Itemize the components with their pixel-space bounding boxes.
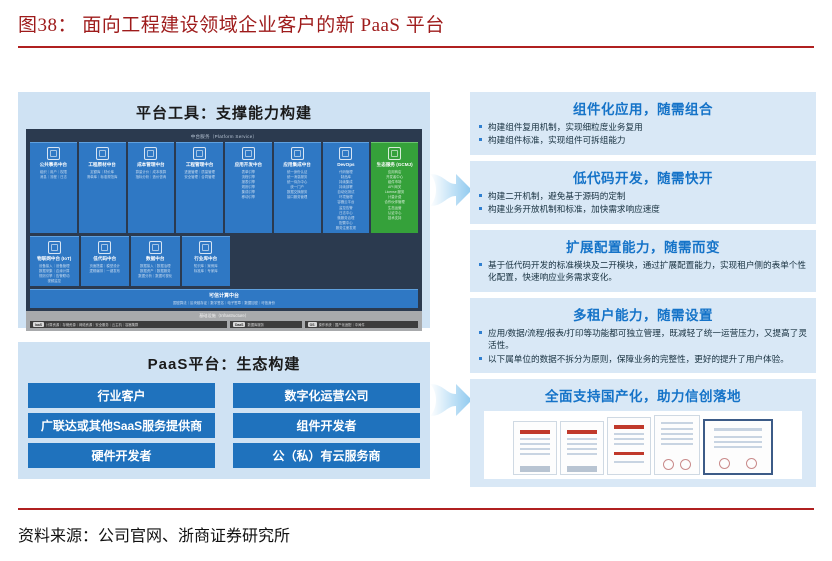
trusted-computing-band[interactable]: 可信计算中台 国密算法｜区块链存证｜数字签名｜电子签章｜数据加密｜可信身份 [30,289,418,308]
tile-label: DevOps [337,162,354,168]
module-icon [144,147,157,160]
source-note: 资料来源：公司官网、浙商证券研究所 [18,522,290,546]
tile-sub: 技术支持 [372,216,417,221]
tile-row-2-spacer [232,236,418,286]
module-icon [291,147,304,160]
tile-label: 公共事务中台 [40,162,68,168]
eco-item-industry-customer[interactable]: 行业客户 [28,383,215,408]
tile-lowcode[interactable]: 低代码中台 页面搭建｜模型设计 逻辑编排｜一键发布 [81,236,130,286]
certificate-thumbnail[interactable] [607,417,651,475]
tile-sub: 移动引擎 [226,195,271,200]
paas-ecosystem-heading: PaaS平台：生态构建 [28,349,420,380]
tile-data-middle-platform[interactable]: 数据中台 数据接入｜数据治理 数据资产｜数据服务 数据分析｜数据可视化 [131,236,180,286]
bullet-item: 构建组件复用机制，实现细粒度业务复用 [478,121,808,133]
module-icon [242,147,255,160]
card-componentized-application: 组件化应用，随需组合 构建组件复用机制，实现细粒度业务复用 构建组件标准，实现组… [470,92,816,155]
tile-row-1: 公共事务中台 组织｜用户｜权限 消息｜流程｜日志 工程原材中台 定额库｜材价库 … [30,142,418,233]
tile-sublist: 页面搭建｜模型设计 逻辑编排｜一键发布 [82,264,129,274]
module-icon [98,241,111,254]
tile-row-2: 物联网中台 (IoT) 设备接入｜设备管理 数据采集｜边缘计算 规则引擎｜告警联… [30,236,418,286]
trusted-computing-sub: 国密算法｜区块链存证｜数字签名｜电子签章｜数据加密｜可信身份 [30,300,418,305]
infra-chip: OS [308,322,317,327]
tile-label: 行业库中台 [194,256,217,262]
eco-item-hardware-developer[interactable]: 硬件开发者 [28,443,215,468]
right-column: 组件化应用，随需组合 构建组件复用机制，实现细粒度业务复用 构建组件标准，实现组… [470,92,816,493]
tile-sublist: 组织｜用户｜权限 消息｜流程｜日志 [31,170,76,180]
eco-item-saas-provider[interactable]: 广联达或其他SaaS服务提供商 [28,413,215,438]
tile-sub: 清单库｜标准规范库 [80,175,125,180]
tile-label: 工程原材中台 [88,162,116,168]
tile-sub: 视频监控 [31,279,78,284]
bullet-item: 构建组件标准，实现组件可拆组能力 [478,134,808,146]
card-multi-tenant: 多租户能力，随需设置 应用/数据/流程/报表/打印等功能都可独立管理，既减轻了统… [470,298,816,373]
tile-public-affairs[interactable]: 公共事务中台 组织｜用户｜权限 消息｜流程｜日志 [30,142,77,233]
figure-page: 图38： 面向工程建设领域企业客户的新 PaaS 平台 平台工具：支撑能力构建 … [0,0,832,561]
module-icon [96,147,109,160]
tile-sublist: 知识库｜案例库 标准库｜专家库 [183,264,230,274]
tile-cost-management[interactable]: 成本管理中台 算量计价｜成本核算 指标分析｜造价咨询 [128,142,175,233]
card-bullets: 构建二开机制，避免基于源码的定制 构建业务开放机制和标准，加快需求响应速度 [478,190,808,216]
card-title: 多租户能力，随需设置 [478,303,808,327]
paas-ecosystem-panel: PaaS平台：生态构建 行业客户 广联达或其他SaaS服务提供商 硬件开发者 数… [18,342,430,479]
tile-devops[interactable]: DevOps 代码管理 制品库 持续集成 持续部署 自动化测试 环境管理 容器云… [323,142,370,233]
tile-label: 数据中台 [146,256,164,262]
infra-text: 数据库服务 [247,322,263,327]
module-icon [199,241,212,254]
infrastructure-section: 基础设施（Infrastructure） IaaS 计算资源｜存储资源｜网络资源… [26,311,422,331]
tile-label: 物联网中台 (IoT) [37,256,71,262]
figure-title-bar: 图38： 面向工程建设领域企业客户的新 PaaS 平台 [18,10,814,37]
tile-sublist: 数据接入｜数据治理 数据资产｜数据服务 数据分析｜数据可视化 [132,264,179,279]
card-title: 组件化应用，随需组合 [478,97,808,121]
footer-divider [18,508,814,510]
page-title: 图38： 面向工程建设领域企业客户的新 PaaS 平台 [18,10,814,37]
tile-project-management[interactable]: 工程管理中台 进度管理｜质量管理 安全管理｜合同管理 [176,142,223,233]
tile-sub: 消息｜流程｜日志 [31,175,76,180]
ecosystem-left-column: 行业客户 广联达或其他SaaS服务提供商 硬件开发者 [28,383,215,468]
tile-app-development[interactable]: 应用开发中台 表单引擎 流程引擎 报表引擎 规则引擎 集成引擎 移动引擎 [225,142,272,233]
arrow-right-bottom [428,378,474,422]
tile-sublist: 定额库｜材价库 清单库｜标准规范库 [80,170,125,180]
certificate-thumbnail[interactable] [703,419,773,475]
infra-text: 操作系统｜国产化适配｜中间件 [319,322,365,327]
module-icon [339,147,352,160]
infrastructure-title: 基础设施（Infrastructure） [30,313,418,319]
bullet-item: 构建业务开放机制和标准，加快需求响应速度 [478,203,808,215]
infrastructure-item-os[interactable]: OS 操作系统｜国产化适配｜中间件 [305,321,418,328]
module-icon [193,147,206,160]
infrastructure-item-daas[interactable]: DaaS 数据库服务 [230,321,302,328]
tile-label: 应用开发中台 [235,162,263,168]
platform-tools-heading: 平台工具：支撑能力构建 [26,98,422,129]
infrastructure-item-iaas[interactable]: IaaS 计算资源｜存储资源｜网络资源｜安全服务｜云主机｜容器集群 [30,321,227,328]
eco-item-digital-operation-company[interactable]: 数字化运营公司 [233,383,420,408]
tile-sublist: 统一身份认证 统一消息服务 统一待办中心 统一门户 数据交换服务 接口服务管理 [275,170,320,201]
card-title: 扩展配置能力，随需而变 [478,235,808,259]
tile-sublist: 应用商店 开发者中心 组件市场 API 网关 License 服务 计量计费 合… [372,170,417,221]
module-icon [48,241,61,254]
tile-sub: 逻辑编排｜一键发布 [82,269,129,274]
tile-sub: 安全管理｜合同管理 [177,175,222,180]
tile-label: 工程管理中台 [186,162,214,168]
certificate-thumbnail[interactable] [654,415,700,475]
certificate-strip [484,411,802,479]
card-bullets: 应用/数据/流程/报表/打印等功能都可独立管理，既减轻了统一运营压力，又提高了灵… [478,327,808,365]
tile-app-integration[interactable]: 应用集成中台 统一身份认证 统一消息服务 统一待办中心 统一门户 数据交换服务 … [274,142,321,233]
infra-chip: IaaS [33,322,44,327]
title-divider [18,46,814,48]
board-caption: 中台服务（Platform Service） [30,132,418,142]
left-column: 平台工具：支撑能力构建 中台服务（Platform Service） 公共事务中… [18,92,430,479]
tile-sublist: 进度管理｜质量管理 安全管理｜合同管理 [177,170,222,180]
tile-sub: 服务注册发现 [324,226,369,231]
arrow-right-top [428,168,474,212]
card-domestic-support: 全面支持国产化，助力信创落地 [470,379,816,487]
trusted-computing-title: 可信计算中台 [30,292,418,299]
module-icon [47,147,60,160]
tile-sublist: 代码管理 制品库 持续集成 持续部署 自动化测试 环境管理 容器云平台 监控告警… [324,170,369,231]
tile-industry-library[interactable]: 行业库中台 知识库｜案例库 标准库｜专家库 [182,236,231,286]
tile-iot[interactable]: 物联网中台 (IoT) 设备接入｜设备管理 数据采集｜边缘计算 规则引擎｜告警联… [30,236,79,286]
bullet-item: 构建二开机制，避免基于源码的定制 [478,190,808,202]
card-bullets: 基于低代码开发的标准模块及二开模块，通过扩展配置能力，实现租户侧的表单个性化配置… [478,259,808,284]
tile-sub: 接口服务管理 [275,195,320,200]
infra-chip: DaaS [233,322,245,327]
tile-sublist: 设备接入｜设备管理 数据采集｜边缘计算 规则引擎｜告警联动 视频监控 [31,264,78,284]
card-title: 低代码开发，随需快开 [478,166,808,190]
tile-label: 低代码中台 [93,256,116,262]
tile-label: 应用集成中台 [283,162,311,168]
module-icon [149,241,162,254]
tile-engineering-materials[interactable]: 工程原材中台 定额库｜材价库 清单库｜标准规范库 [79,142,126,233]
tile-sublist: 算量计价｜成本核算 指标分析｜造价咨询 [129,170,174,180]
bullet-item: 基于低代码开发的标准模块及二开模块，通过扩展配置能力，实现租户侧的表单个性化配置… [478,259,808,284]
bullet-item: 应用/数据/流程/报表/打印等功能都可独立管理，既减轻了统一运营压力，又提高了灵… [478,327,808,352]
platform-tools-panel: 平台工具：支撑能力构建 中台服务（Platform Service） 公共事务中… [18,92,430,328]
tile-sublist: 表单引擎 流程引擎 报表引擎 规则引擎 集成引擎 移动引擎 [226,170,271,201]
card-lowcode-development: 低代码开发，随需快开 构建二开机制，避免基于源码的定制 构建业务开放机制和标准，… [470,161,816,224]
tile-label: 生态服务 (GCMJ) [377,162,413,168]
eco-item-cloud-provider[interactable]: 公（私）有云服务商 [233,443,420,468]
tile-sub: 数据分析｜数据可视化 [132,274,179,279]
card-title: 全面支持国产化，助力信创落地 [478,384,808,408]
ecosystem-grid: 行业客户 广联达或其他SaaS服务提供商 硬件开发者 数字化运营公司 组件开发者… [28,383,420,468]
module-icon [388,147,401,160]
infra-text: 计算资源｜存储资源｜网络资源｜安全服务｜云主机｜容器集群 [46,322,138,327]
certificate-thumbnail[interactable] [560,421,604,475]
tile-sub: 标准库｜专家库 [183,269,230,274]
platform-service-board: 中台服务（Platform Service） 公共事务中台 组织｜用户｜权限 消… [26,129,422,325]
card-bullets: 构建组件复用机制，实现细粒度业务复用 构建组件标准，实现组件可拆组能力 [478,121,808,147]
tile-ecosystem-service[interactable]: 生态服务 (GCMJ) 应用商店 开发者中心 组件市场 API 网关 Licen… [371,142,418,233]
bullet-item: 以下属单位的数据不拆分为原则，保障业务的完整性，更好的提升了用户体验。 [478,353,808,365]
certificate-thumbnail[interactable] [513,421,557,475]
tile-sub: 指标分析｜造价咨询 [129,175,174,180]
tile-label: 成本管理中台 [137,162,165,168]
ecosystem-right-column: 数字化运营公司 组件开发者 公（私）有云服务商 [233,383,420,468]
infrastructure-row: IaaS 计算资源｜存储资源｜网络资源｜安全服务｜云主机｜容器集群 DaaS 数… [30,321,418,328]
eco-item-component-developer[interactable]: 组件开发者 [233,413,420,438]
card-extensible-configuration: 扩展配置能力，随需而变 基于低代码开发的标准模块及二开模块，通过扩展配置能力，实… [470,230,816,292]
